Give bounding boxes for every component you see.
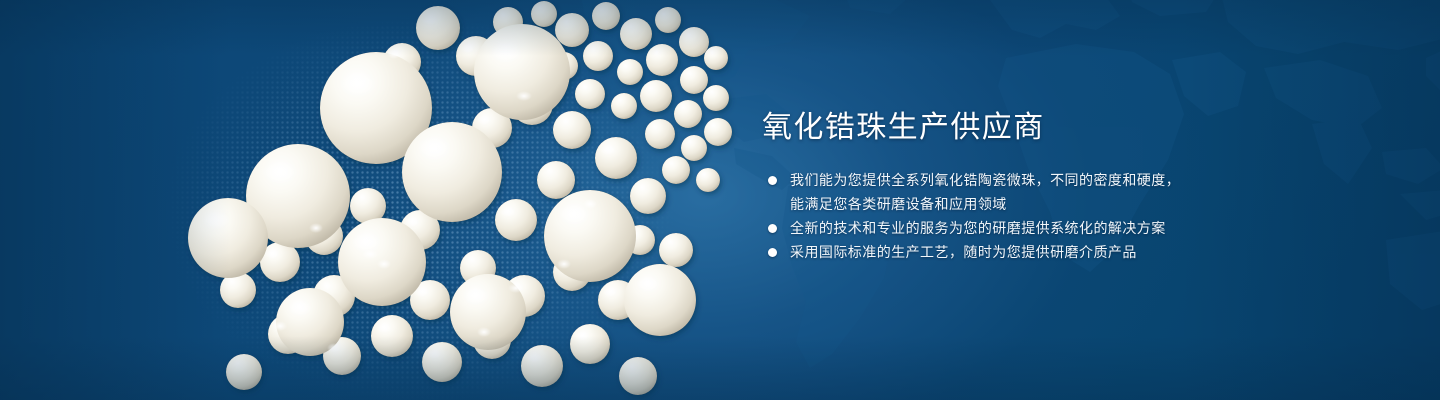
feature-bullet-item: 我们能为您提供全系列氧化锆陶瓷微珠，不同的密度和硬度， 能满足您各类研磨设备和应… — [762, 168, 1232, 216]
bullet-dot-icon — [768, 224, 777, 233]
feature-bullet-line-1: 全新的技术和专业的服务为您的研磨提供系统化的解决方案 — [790, 220, 1166, 236]
banner-headline: 氧化锆珠生产供应商 — [762, 108, 1232, 148]
feature-bullet-list: 我们能为您提供全系列氧化锆陶瓷微珠，不同的密度和硬度， 能满足您各类研磨设备和应… — [762, 168, 1232, 264]
feature-bullet-line-1: 采用国际标准的生产工艺，随时为您提供研磨介质产品 — [790, 244, 1137, 260]
hero-banner: 氧化锆珠生产供应商 我们能为您提供全系列氧化锆陶瓷微珠，不同的密度和硬度， 能满… — [0, 0, 1440, 400]
halftone-dot-pattern — [90, 0, 710, 400]
feature-bullet-line-1: 我们能为您提供全系列氧化锆陶瓷微珠，不同的密度和硬度， — [790, 172, 1180, 188]
feature-bullet-line-2: 能满足您各类研磨设备和应用领域 — [790, 192, 1232, 216]
zirconia-beads-photo — [120, 0, 720, 400]
bullet-dot-icon — [768, 248, 777, 257]
feature-bullet-item: 采用国际标准的生产工艺，随时为您提供研磨介质产品 — [762, 240, 1232, 264]
feature-bullet-item: 全新的技术和专业的服务为您的研磨提供系统化的解决方案 — [762, 216, 1232, 240]
bullet-dot-icon — [768, 176, 777, 185]
banner-copy: 氧化锆珠生产供应商 我们能为您提供全系列氧化锆陶瓷微珠，不同的密度和硬度， 能满… — [762, 108, 1232, 264]
